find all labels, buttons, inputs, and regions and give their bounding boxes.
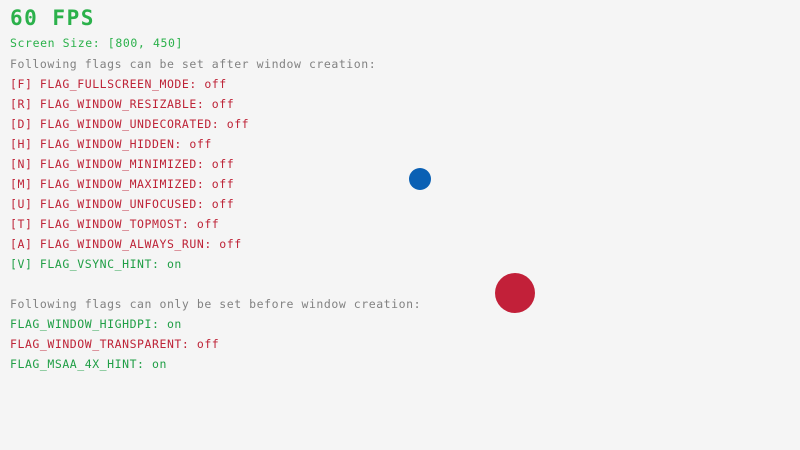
flag-row-flag-window-always-run[interactable]: [A] FLAG_WINDOW_ALWAYS_RUN: off — [10, 239, 242, 251]
flag-row-flag-msaa-4x-hint[interactable]: FLAG_MSAA_4X_HINT: on — [10, 359, 167, 371]
flag-row-flag-window-unfocused[interactable]: [U] FLAG_WINDOW_UNFOCUSED: off — [10, 199, 234, 211]
creation-flags-header: Following flags can only be set before w… — [10, 299, 421, 311]
fps-counter: 60 FPS — [10, 8, 95, 29]
screen-size-label: Screen Size: [800, 450] — [10, 38, 183, 50]
flag-row-flag-window-topmost[interactable]: [T] FLAG_WINDOW_TOPMOST: off — [10, 219, 219, 231]
flag-row-flag-fullscreen-mode[interactable]: [F] FLAG_FULLSCREEN_MODE: off — [10, 79, 227, 91]
runtime-flags-header: Following flags can be set after window … — [10, 59, 376, 71]
flag-row-flag-vsync-hint[interactable]: [V] FLAG_VSYNC_HINT: on — [10, 259, 182, 271]
flag-row-flag-window-resizable[interactable]: [R] FLAG_WINDOW_RESIZABLE: off — [10, 99, 234, 111]
flag-row-flag-window-transparent[interactable]: FLAG_WINDOW_TRANSPARENT: off — [10, 339, 219, 351]
flag-row-flag-window-undecorated[interactable]: [D] FLAG_WINDOW_UNDECORATED: off — [10, 119, 249, 131]
flag-row-flag-window-maximized[interactable]: [M] FLAG_WINDOW_MAXIMIZED: off — [10, 179, 234, 191]
large-red-ball — [495, 273, 535, 313]
flag-row-flag-window-highdpi[interactable]: FLAG_WINDOW_HIGHDPI: on — [10, 319, 182, 331]
flag-row-flag-window-minimized[interactable]: [N] FLAG_WINDOW_MINIMIZED: off — [10, 159, 234, 171]
flag-row-flag-window-hidden[interactable]: [H] FLAG_WINDOW_HIDDEN: off — [10, 139, 212, 151]
small-blue-ball — [409, 168, 431, 190]
raylib-window: 60 FPS Screen Size: [800, 450] Following… — [0, 0, 800, 450]
